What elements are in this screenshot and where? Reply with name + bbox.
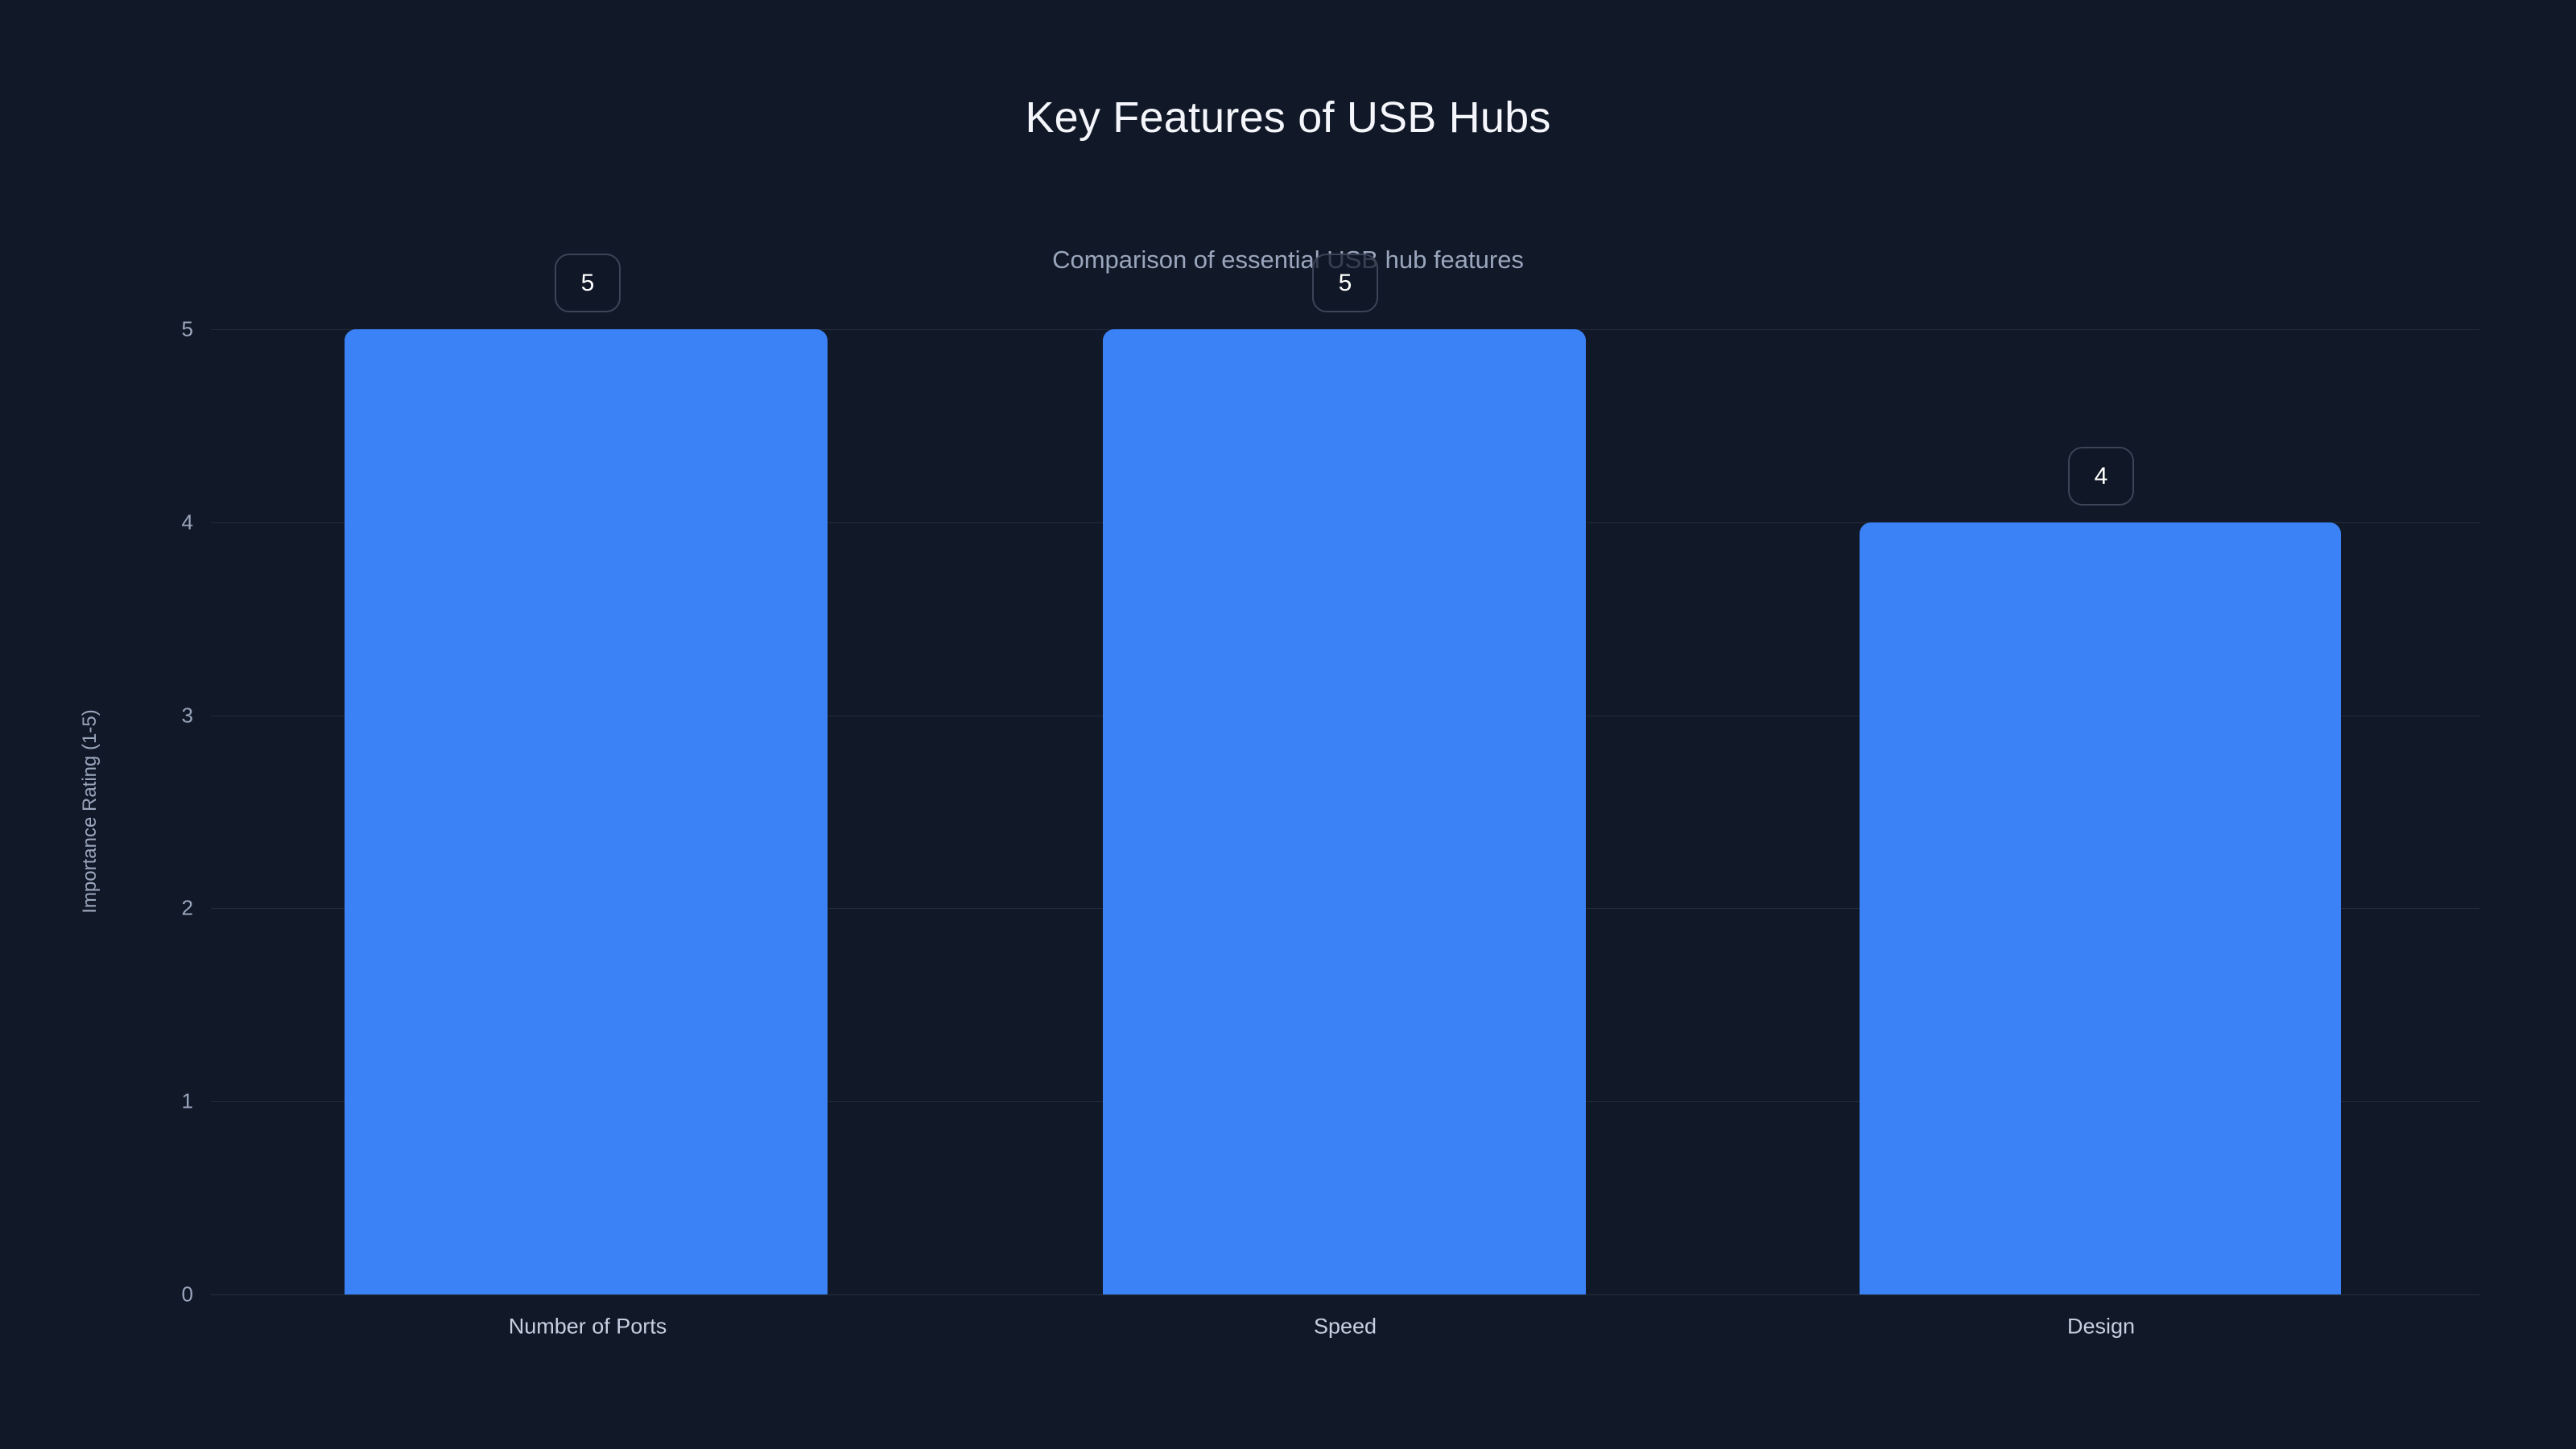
y-axis-title: Importance Rating (1-5) bbox=[79, 709, 101, 913]
bar-chart: Key Features of USB Hubs Comparison of e… bbox=[0, 0, 2576, 1449]
gridline-0 bbox=[211, 1294, 2479, 1295]
x-tick-speed: Speed bbox=[1314, 1315, 1377, 1340]
value-badge-number-of-ports: 5 bbox=[555, 254, 621, 312]
bar-speed[interactable] bbox=[1103, 329, 1586, 1294]
chart-title: Key Features of USB Hubs bbox=[0, 94, 2576, 142]
value-badge-speed: 5 bbox=[1312, 254, 1378, 312]
y-tick-5: 5 bbox=[182, 317, 193, 342]
chart-subtitle: Comparison of essential USB hub features bbox=[0, 246, 2576, 274]
y-tick-0: 0 bbox=[182, 1282, 193, 1307]
y-tick-2: 2 bbox=[182, 896, 193, 921]
x-tick-design: Design bbox=[2067, 1315, 2135, 1340]
y-tick-4: 4 bbox=[182, 510, 193, 535]
bar-design[interactable] bbox=[1860, 522, 2341, 1294]
x-tick-number-of-ports: Number of Ports bbox=[509, 1315, 667, 1340]
plot-area bbox=[211, 329, 2479, 1294]
bar-number-of-ports[interactable] bbox=[345, 329, 828, 1294]
y-axis-ticks: 0 1 2 3 4 5 bbox=[121, 329, 193, 1294]
y-tick-3: 3 bbox=[182, 703, 193, 728]
y-tick-1: 1 bbox=[182, 1089, 193, 1114]
value-badge-design: 4 bbox=[2068, 447, 2134, 506]
